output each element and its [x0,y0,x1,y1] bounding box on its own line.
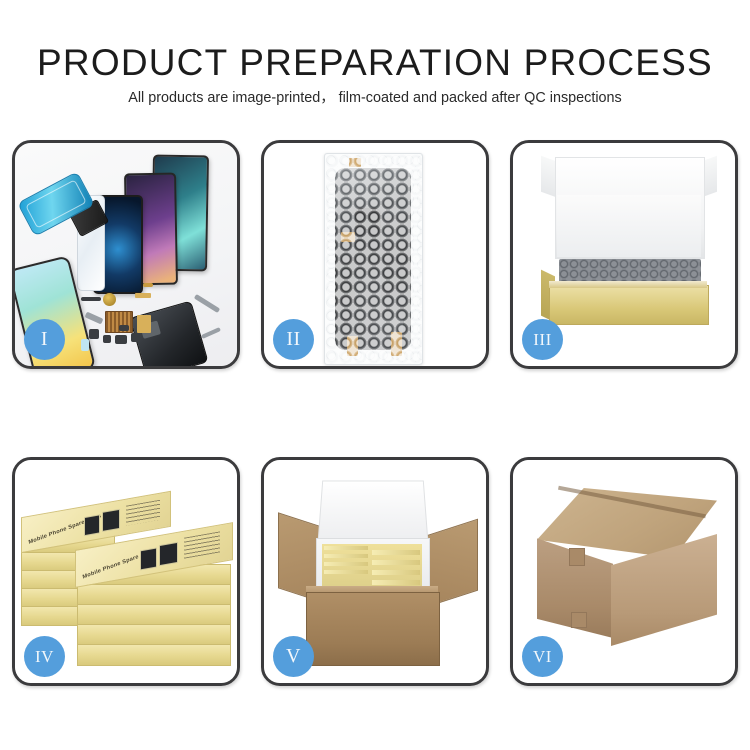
inner-box-ridge-5 [372,550,420,555]
component-bar [81,297,101,301]
component-small-5 [131,333,140,342]
stack-box-r4 [77,624,231,646]
inner-box-ridge-2 [324,554,368,558]
bubble-wrap-bag [324,153,423,365]
step-3-photo: III [513,143,735,366]
step-4-badge: IV [24,636,65,677]
step-1-badge: I [24,319,65,360]
process-step-grid: I II [12,140,738,686]
component-small-4 [119,325,129,331]
step-2-badge: II [273,319,314,360]
component-gold-strip [143,283,153,287]
step-panel-4[interactable]: Mobile Phone Spare Parts Mobile Phone Sp… [12,457,240,686]
phone-back-cover [129,300,208,366]
carton-body-front [306,592,440,666]
box-art-screen-2 [102,509,120,532]
step-1-photo: I [15,143,237,366]
inner-box-ridge-3 [324,562,368,566]
step-2-photo: II [264,143,486,366]
step-panel-2[interactable]: II [261,140,489,369]
component-small-2 [103,335,111,343]
inner-box-ridge-1 [324,546,368,550]
component-small-1 [89,329,99,339]
carton-tape-upper [569,548,585,566]
tool-tweezers [194,294,220,313]
box-art-screen-1 [84,514,100,536]
stack-box-r2 [77,584,231,606]
step-panel-1[interactable]: I [12,140,240,369]
step-3-badge: III [522,319,563,360]
step-5-badge: V [273,636,314,677]
step-6-photo: VI [513,460,735,683]
inner-box-ridge-7 [372,570,420,575]
step-panel-3[interactable]: III [510,140,738,369]
infographic-page: PRODUCT PREPARATION PROCESS All products… [0,0,750,750]
box-kraft-rim [549,281,707,288]
page-subtitle: All products are image-printed， film-coa… [0,88,750,108]
step-panel-6[interactable]: VI [510,457,738,686]
tool-screwdriver [201,327,221,339]
component-bracket-1 [85,312,104,325]
component-flex-cable-2 [137,315,151,333]
step-panel-5[interactable]: V [261,457,489,686]
inner-box-ridge-6 [372,560,420,565]
inner-box-ridge-8 [372,580,420,585]
box-art-screen-4 [159,542,178,566]
step-6-badge: VI [522,636,563,677]
carton-tape-lower [571,612,587,628]
foam-lid [318,481,429,543]
box-art-screen-3 [140,547,157,570]
page-title: PRODUCT PREPARATION PROCESS [0,42,750,84]
component-sim-tray [81,339,89,351]
component-small-3 [115,335,127,344]
box-foam-sheet [557,195,701,257]
step-4-photo: Mobile Phone Spare Parts Mobile Phone Sp… [15,460,237,683]
stack-box-r3 [77,604,231,626]
stack-box-r5 [77,644,231,666]
inner-box-ridge-4 [324,570,368,574]
bubble-texture-overlay [325,154,422,364]
box-kraft-front [549,285,709,325]
component-flex-cable-1 [135,293,151,298]
component-coin [103,293,116,306]
box-art-textlines-1 [126,500,160,526]
step-5-photo: V [264,460,486,683]
box-art-textlines-2 [184,531,220,558]
